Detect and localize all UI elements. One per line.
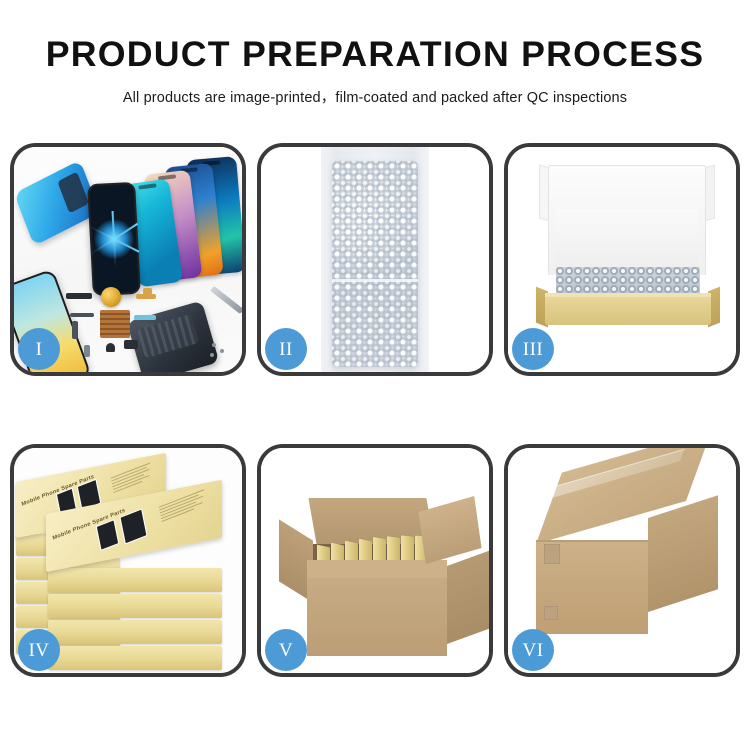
page-title: PRODUCT PREPARATION PROCESS [0, 37, 750, 72]
flex-cable-icon [143, 288, 152, 295]
page-subtitle: All products are image-printed，film-coat… [0, 86, 750, 107]
open-carton-icon [307, 578, 447, 656]
chip-part-icon [66, 293, 92, 299]
step-badge-4: IV [18, 629, 60, 671]
steps-grid: I II [0, 143, 750, 745]
step-badge-3: III [512, 328, 554, 370]
screw-icon [210, 353, 214, 357]
step-panel-5[interactable]: V [257, 444, 493, 677]
step-panel-3[interactable]: III [504, 143, 740, 376]
steps-row-1: I II [0, 143, 750, 378]
kraft-box-front-icon [545, 297, 711, 325]
step-badge-6: VI [512, 629, 554, 671]
phone-front-screen-protector-icon [87, 182, 141, 296]
chip-part-icon [124, 340, 138, 349]
screw-icon [220, 349, 224, 353]
bubble-wrap-pouch-icon [332, 161, 418, 367]
carton-side-panel [447, 549, 489, 644]
screw-icon [212, 343, 216, 347]
connector-grid-part-icon [100, 310, 130, 338]
ribbon-cable-icon [134, 315, 156, 320]
step-badge-2: II [265, 328, 307, 370]
step-panel-6[interactable]: VI [504, 444, 740, 677]
wire-part-icon [70, 313, 94, 317]
step-panel-1[interactable]: I [10, 143, 246, 376]
step-badge-5: V [265, 629, 307, 671]
box-foam-liner [556, 209, 698, 275]
carton-tab-lower [544, 606, 558, 620]
product-preparation-infographic: PRODUCT PREPARATION PROCESS All products… [0, 0, 750, 750]
carton-seam [536, 540, 648, 542]
step-panel-2[interactable]: II [257, 143, 493, 376]
coil-part-icon [101, 287, 121, 307]
small-part-icon [84, 345, 90, 357]
speaker-part-icon [106, 343, 115, 352]
ribbon-cable-icon [138, 323, 154, 327]
step-panel-4[interactable]: Mobile Phone Spare Parts Mobile Phone Sp… [10, 444, 246, 677]
step-badge-1: I [18, 328, 60, 370]
wire-part-icon [72, 321, 78, 339]
carton-tab-upper [544, 544, 560, 564]
steps-row-2: Mobile Phone Spare Parts Mobile Phone Sp… [0, 444, 750, 679]
header: PRODUCT PREPARATION PROCESS All products… [0, 0, 750, 107]
